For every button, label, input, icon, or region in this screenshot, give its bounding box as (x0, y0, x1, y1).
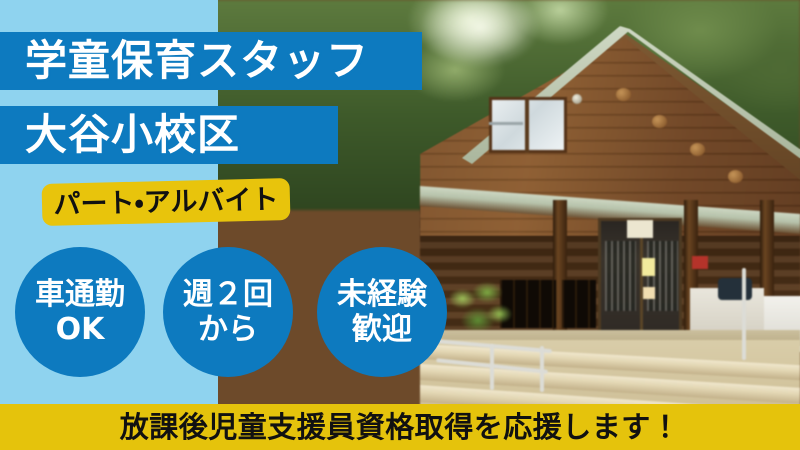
badge-no-experience-line-1: 未経験 (337, 277, 427, 312)
sky-glow (420, 0, 540, 90)
badge-no-experience-line-2: 歓迎 (352, 312, 412, 347)
log-end (616, 88, 631, 101)
shoe-cubbies (562, 280, 596, 328)
badge-twice-weekly-line-2: から (198, 312, 258, 347)
badge-twice-weekly: 週２回 から (163, 247, 293, 377)
gable-window (489, 97, 567, 153)
lift-arm (718, 278, 752, 300)
handrail-post (540, 346, 544, 392)
footer-message: 放課後児童支援員資格取得を応援します！ (120, 413, 681, 442)
badge-car-commute-line-1: 車通勤 (35, 277, 125, 312)
badge-car-commute: 車通勤 OK (15, 247, 145, 377)
headline-banner-secondary: 大谷小校区 (0, 106, 338, 164)
exterior-lamp (572, 94, 582, 104)
handrail-post (490, 344, 494, 390)
job-ad-poster: 学童保育スタッフ 大谷小校区 パート・アルバイト 車通勤 OK 週２回 から 未… (0, 0, 800, 450)
headline-banner-primary: 学童保育スタッフ (0, 32, 422, 90)
door-notice-board (627, 220, 653, 238)
handrail (742, 268, 746, 360)
badge-no-experience: 未経験 歓迎 (317, 247, 447, 377)
door-notice-small (643, 287, 655, 299)
headline-line-1: 学童保育スタッフ (25, 40, 369, 82)
fire-alarm-box (692, 256, 708, 269)
badge-car-commute-line-2: OK (56, 312, 105, 347)
headline-line-2: 大谷小校区 (25, 114, 240, 156)
log-end (652, 115, 667, 128)
log-end (728, 170, 743, 183)
door-glass-left (605, 241, 636, 311)
badge-twice-weekly-line-1: 週２回 (183, 277, 273, 312)
door-glass-right (647, 241, 678, 311)
footer-banner: 放課後児童支援員資格取得を応援します！ (0, 404, 800, 450)
employment-type-label: パート・アルバイト (53, 186, 279, 218)
employment-type-tag: パート・アルバイト (42, 178, 291, 226)
log-end (690, 143, 705, 156)
door-notice-yellow (642, 258, 655, 276)
